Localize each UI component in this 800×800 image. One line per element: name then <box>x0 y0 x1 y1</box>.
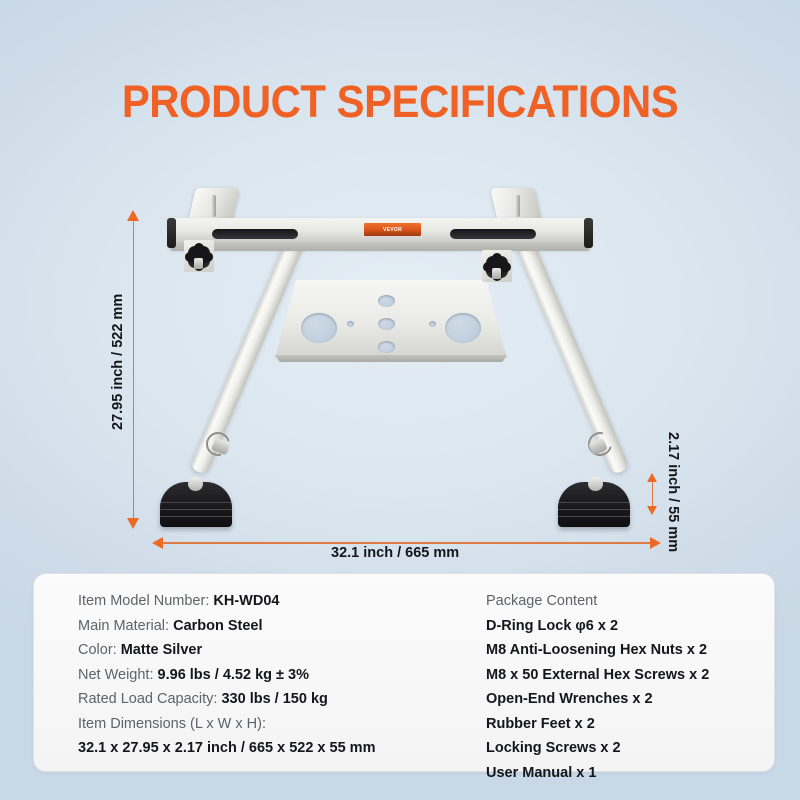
spec-label-color: Color: <box>78 642 117 658</box>
spec-row-item-dimensions-label: Item Dimensions (L x W x H): <box>78 712 468 737</box>
crossbar-end-cap-right <box>584 218 593 248</box>
plate-hole-center-bottom <box>378 341 395 353</box>
spec-row-color: Color: Matte Silver <box>78 638 468 663</box>
spec-value-net-weight: 9.96 lbs / 4.52 kg ± 3% <box>158 667 309 683</box>
bracket-pin-left <box>212 195 216 217</box>
foot-ridge <box>558 516 630 517</box>
plate-hole-small-right <box>429 321 436 327</box>
thickness-arrow-bottom <box>647 506 657 515</box>
rubber-foot-left <box>160 482 232 527</box>
mounting-plate-edge <box>275 355 507 362</box>
width-dimension-label: 32.1 inch / 665 mm <box>331 545 459 561</box>
crossbar-lower-lip <box>170 242 590 251</box>
specifications-column: Item Model Number: KH-WD04 Main Material… <box>78 589 468 761</box>
width-arrow-right <box>650 537 661 549</box>
plate-hole-large-right <box>445 313 481 343</box>
width-dimension-line <box>163 542 650 544</box>
rubber-foot-right <box>558 482 630 527</box>
knob-bolt-right <box>492 268 501 279</box>
plate-hole-center-top <box>378 295 395 307</box>
foot-pin-right <box>588 477 603 491</box>
foot-ridge <box>558 509 630 510</box>
foot-ridge <box>160 509 232 510</box>
foot-ridge <box>160 502 232 503</box>
spec-row-material: Main Material: Carbon Steel <box>78 614 468 639</box>
plate-hole-center-middle <box>378 318 395 330</box>
spec-row-net-weight: Net Weight: 9.96 lbs / 4.52 kg ± 3% <box>78 663 468 688</box>
crossbar-slot-right <box>450 229 536 239</box>
foot-pin-left <box>188 477 203 491</box>
package-content-column: Package Content D-Ring Lock φ6 x 2 M8 An… <box>486 589 766 785</box>
bracket-pin-right <box>516 195 520 217</box>
knob-bolt-left <box>194 258 203 269</box>
specifications-card: Item Model Number: KH-WD04 Main Material… <box>33 573 775 772</box>
product-illustration: VEVOR <box>150 185 670 535</box>
crossbar-end-cap-left <box>167 218 176 248</box>
package-item: Locking Screws x 2 <box>486 736 766 761</box>
package-item: M8 x 50 External Hex Screws x 2 <box>486 663 766 688</box>
package-content-heading: Package Content <box>486 589 766 614</box>
product-specifications-page: PRODUCT SPECIFICATIONS VEVOR <box>0 0 800 800</box>
adjustment-knob-left <box>184 243 214 273</box>
plate-hole-small-left <box>347 321 354 327</box>
spec-value-load-capacity: 330 lbs / 150 kg <box>221 691 327 707</box>
foot-ridge <box>558 502 630 503</box>
spec-label-model: Item Model Number: <box>78 593 209 609</box>
spec-row-load-capacity: Rated Load Capacity: 330 lbs / 150 kg <box>78 687 468 712</box>
spec-value-color: Matte Silver <box>121 642 202 658</box>
package-item: M8 Anti-Loosening Hex Nuts x 2 <box>486 638 766 663</box>
spec-label-material: Main Material: <box>78 618 169 634</box>
thickness-dimension-line <box>652 482 654 506</box>
height-dimension-label: 27.95 inch / 522 mm <box>110 294 126 430</box>
height-arrow-bottom <box>127 518 139 529</box>
crossbar-slot-left <box>212 229 298 239</box>
foot-ridge <box>160 516 232 517</box>
package-item: Rubber Feet x 2 <box>486 712 766 737</box>
mounting-plate <box>275 280 507 358</box>
vevor-brand-label: VEVOR <box>364 223 421 236</box>
spec-label-net-weight: Net Weight: <box>78 667 154 683</box>
adjustment-knob-right <box>482 253 512 283</box>
spec-label-item-dimensions: Item Dimensions (L x W x H): <box>78 716 266 732</box>
spec-label-load-capacity: Rated Load Capacity: <box>78 691 217 707</box>
product-leg-right <box>513 233 630 475</box>
height-dimension-line <box>133 220 135 518</box>
package-item: D-Ring Lock φ6 x 2 <box>486 614 766 639</box>
thickness-dimension-label: 2.17 inch / 55 mm <box>665 432 681 552</box>
spec-value-item-dimensions: 32.1 x 27.95 x 2.17 inch / 665 x 522 x 5… <box>78 736 468 761</box>
package-item: Open-End Wrenches x 2 <box>486 687 766 712</box>
page-title: PRODUCT SPECIFICATIONS <box>28 76 772 128</box>
spec-value-model: KH-WD04 <box>213 593 279 609</box>
spec-value-material: Carbon Steel <box>173 618 262 634</box>
thickness-arrow-top <box>647 473 657 482</box>
spec-row-model: Item Model Number: KH-WD04 <box>78 589 468 614</box>
plate-hole-large-left <box>301 313 337 343</box>
width-arrow-left <box>152 537 163 549</box>
package-item: User Manual x 1 <box>486 761 766 786</box>
